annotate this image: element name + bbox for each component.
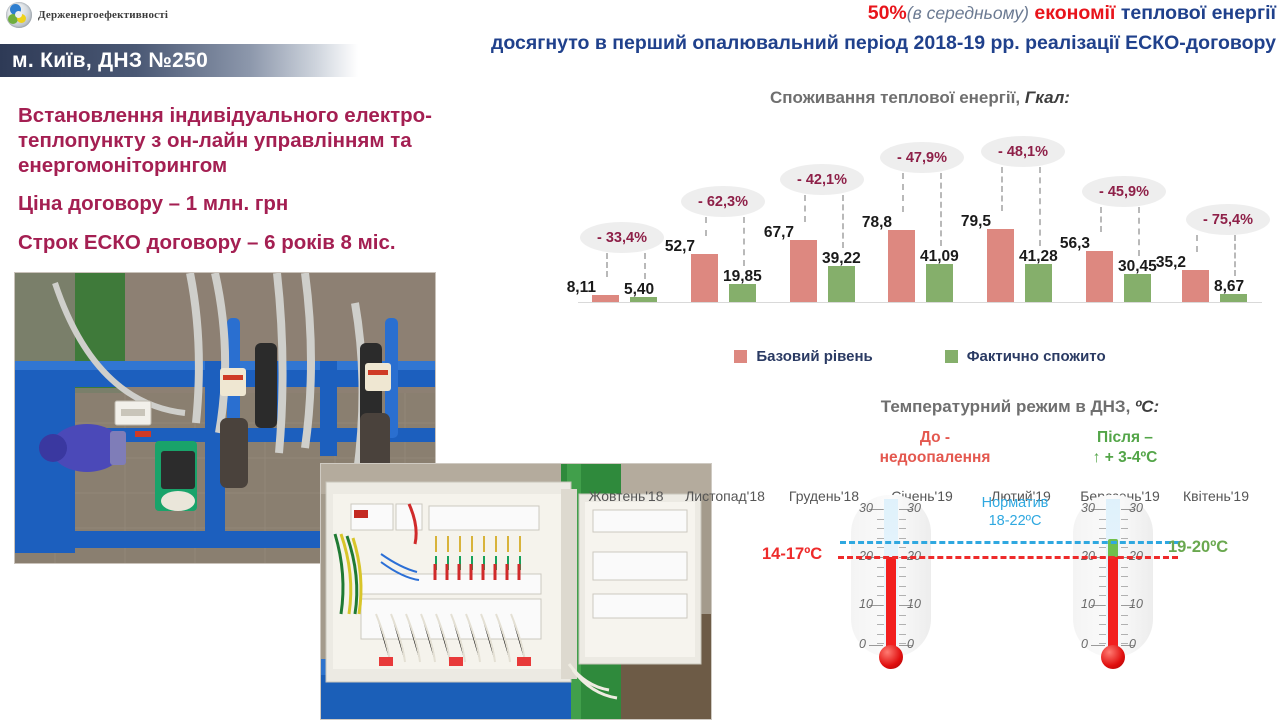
scale-minor-tick	[1121, 509, 1128, 510]
bar-actual	[729, 284, 756, 302]
scale-minor-tick	[1099, 624, 1106, 625]
scale-minor-tick	[1099, 605, 1106, 606]
scale-minor-tick	[1099, 586, 1106, 587]
headline: 50%(в середньому) економії теплової енер…	[416, 2, 1276, 56]
before-label-line1: До -	[840, 428, 1030, 448]
scale-tick	[1091, 645, 1105, 646]
scale-minor-tick	[877, 576, 884, 577]
callout-leader	[842, 195, 844, 248]
before-temperature-value: 14-17ºC	[762, 545, 822, 564]
scale-minor-tick	[899, 634, 906, 635]
scale-number: 10	[1081, 597, 1095, 611]
norm-label-line2: 18-22ºC	[955, 512, 1075, 530]
bar-value-base: 52,7	[665, 238, 695, 256]
bar-actual	[926, 264, 953, 302]
bar-actual	[1025, 264, 1052, 302]
scale-minor-tick	[899, 519, 906, 520]
scale-minor-tick	[1121, 595, 1128, 596]
scale-minor-tick	[877, 586, 884, 587]
reduction-callout: - 33,4%	[580, 222, 664, 253]
after-label: Після – ↑ + 3-4ºC	[1030, 428, 1220, 468]
scale-minor-tick	[1099, 615, 1106, 616]
bar-value-actual: 19,85	[723, 268, 762, 286]
scale-minor-tick	[1099, 509, 1106, 510]
bar-value-base: 56,3	[1060, 235, 1090, 253]
scale-number: 10	[859, 597, 873, 611]
after-temperature-value: 19-20ºC	[1168, 538, 1228, 557]
scale-minor-tick	[1099, 643, 1106, 644]
before-label-line2: недоопалення	[840, 448, 1030, 468]
scale-minor-tick	[1121, 615, 1128, 616]
callout-leader	[644, 253, 646, 279]
callout-leader	[606, 253, 608, 277]
callout-leader	[1001, 167, 1003, 211]
scale-minor-tick	[1099, 538, 1106, 539]
bar-value-actual: 8,67	[1214, 278, 1244, 296]
bar-value-base: 67,7	[764, 224, 794, 242]
scale-minor-tick	[877, 624, 884, 625]
reduction-callout: - 62,3%	[681, 186, 765, 217]
headline-paren: (в середньому)	[907, 3, 1029, 23]
scale-minor-tick	[1099, 519, 1106, 520]
scale-minor-tick	[1121, 586, 1128, 587]
scale-minor-tick	[877, 519, 884, 520]
scale-minor-tick	[899, 605, 906, 606]
scale-minor-tick	[899, 538, 906, 539]
reduction-callout: - 48,1%	[981, 136, 1065, 167]
bar-base	[888, 230, 915, 302]
city-title-bar: м. Київ, ДНЗ №250	[0, 44, 358, 77]
scale-minor-tick	[899, 595, 906, 596]
legend-label-actual: Фактично спожито	[967, 348, 1106, 365]
callout-leader	[1138, 207, 1140, 256]
scale-minor-tick	[899, 586, 906, 587]
bar-value-actual: 5,40	[624, 281, 654, 299]
scale-minor-tick	[877, 567, 884, 568]
bar-actual	[828, 266, 855, 302]
headline-line2: досягнуто в перший опалювальний період 2…	[416, 32, 1276, 56]
legend-item-base: Базовий рівень	[734, 348, 872, 365]
callout-leader	[1039, 167, 1041, 246]
scale-minor-tick	[877, 509, 884, 510]
legend-label-base: Базовий рівень	[756, 348, 872, 365]
callout-leader	[705, 217, 707, 236]
scale-minor-tick	[899, 528, 906, 529]
norm-label-line1: Норматив	[955, 494, 1075, 512]
bar-value-base: 35,2	[1156, 254, 1186, 272]
scale-minor-tick	[1099, 567, 1106, 568]
scale-number: 30	[859, 501, 873, 515]
scale-number: 0	[1081, 637, 1088, 651]
heat-consumption-chart: 8,115,40Жовтень'1852,719,85Листопад'1867…	[560, 120, 1280, 335]
bar-base	[1182, 270, 1209, 302]
bar-value-base: 79,5	[961, 213, 991, 231]
callout-leader	[1100, 207, 1102, 232]
scale-minor-tick	[899, 615, 906, 616]
scale-minor-tick	[1121, 519, 1128, 520]
reduction-callout: - 47,9%	[880, 142, 964, 173]
scale-minor-tick	[877, 615, 884, 616]
scale-minor-tick	[899, 547, 906, 548]
city-title: м. Київ, ДНЗ №250	[0, 49, 208, 73]
reduction-callout: - 45,9%	[1082, 176, 1166, 207]
bar-value-actual: 39,22	[822, 250, 861, 268]
x-axis-label: Листопад'18	[670, 488, 780, 504]
scale-minor-tick	[1121, 547, 1128, 548]
scale-number: 30	[1129, 501, 1143, 515]
after-label-line2: ↑ + 3-4ºC	[1030, 448, 1220, 468]
bar-value-base: 8,11	[567, 279, 596, 297]
scale-minor-tick	[877, 595, 884, 596]
scale-tick	[869, 645, 883, 646]
scale-minor-tick	[1121, 605, 1128, 606]
brand-name: Держенергоефективності	[38, 9, 168, 21]
scale-number: 0	[1129, 637, 1136, 651]
brand-logo: Держенергоефективності	[6, 2, 168, 28]
scale-minor-tick	[899, 567, 906, 568]
scale-number: 30	[1081, 501, 1095, 515]
norm-label: Норматив 18-22ºC	[955, 494, 1075, 530]
legend-item-actual: Фактично спожито	[945, 348, 1106, 365]
scale-minor-tick	[1121, 576, 1128, 577]
bar-base	[691, 254, 718, 302]
x-axis-label: Квітень'19	[1161, 488, 1271, 504]
scale-minor-tick	[1099, 576, 1106, 577]
callout-leader	[804, 195, 806, 222]
before-label: До - недоопалення	[840, 428, 1030, 468]
x-axis-label: Жовтень'18	[571, 488, 681, 504]
scale-minor-tick	[899, 509, 906, 510]
thermometer-before: 30302020101000	[851, 495, 931, 675]
contract-term: Строк ЕСКО договору – 6 років 8 міс.	[18, 231, 538, 256]
callout-leader	[743, 217, 745, 266]
measures-text-block: Встановлення індивідуального електро-теп…	[18, 104, 538, 256]
chart-baseline	[578, 302, 1262, 303]
scale-minor-tick	[899, 624, 906, 625]
bar-value-actual: 30,45	[1118, 258, 1157, 276]
callout-leader	[902, 173, 904, 212]
scale-minor-tick	[1121, 528, 1128, 529]
legend-swatch-actual	[945, 350, 958, 363]
bar-value-base: 78,8	[862, 214, 892, 232]
scale-minor-tick	[1121, 567, 1128, 568]
callout-leader	[940, 173, 942, 246]
callout-leader	[1234, 235, 1236, 276]
legend-swatch-base	[734, 350, 747, 363]
scale-number: 10	[907, 597, 921, 611]
scale-minor-tick	[1121, 643, 1128, 644]
norm-dashed-line	[840, 541, 1180, 544]
scale-minor-tick	[877, 538, 884, 539]
scale-minor-tick	[1099, 528, 1106, 529]
bar-base	[592, 295, 619, 302]
scale-minor-tick	[1099, 634, 1106, 635]
chart-title: Споживання теплової енергії, Гкал:	[560, 88, 1280, 108]
thermometer-after: 30302020101000	[1073, 495, 1153, 675]
reduction-callout: - 75,4%	[1186, 204, 1270, 235]
scale-minor-tick	[877, 547, 884, 548]
chart-legend: Базовий рівень Фактично спожито	[560, 348, 1280, 365]
agency-logo-icon	[6, 2, 32, 28]
bar-base	[1086, 251, 1113, 303]
scale-minor-tick	[877, 634, 884, 635]
scale-number: 10	[1129, 597, 1143, 611]
scale-minor-tick	[1099, 547, 1106, 548]
scale-minor-tick	[1121, 538, 1128, 539]
chart-title-unit: Гкал:	[1025, 88, 1070, 107]
bar-actual	[1124, 274, 1151, 302]
scale-number: 0	[907, 637, 914, 651]
chart-title-main: Споживання теплової енергії,	[770, 88, 1020, 107]
scale-number: 30	[907, 501, 921, 515]
scale-minor-tick	[899, 643, 906, 644]
temperature-title-main: Температурний режим в ДНЗ,	[881, 397, 1131, 416]
headline-rest: теплової енергії	[1121, 2, 1276, 24]
scale-minor-tick	[877, 643, 884, 644]
scale-minor-tick	[899, 576, 906, 577]
temperature-title-unit: ºC:	[1135, 397, 1159, 416]
reduction-callout: - 42,1%	[780, 164, 864, 195]
bar-value-actual: 41,09	[920, 248, 959, 266]
before-dashed-line	[838, 556, 1178, 559]
bar-value-actual: 41,28	[1019, 248, 1058, 266]
callout-leader	[1196, 235, 1198, 252]
bar-base	[987, 229, 1014, 302]
temperature-title: Температурний режим в ДНЗ, ºC:	[760, 397, 1280, 417]
scale-minor-tick	[1121, 634, 1128, 635]
scale-number: 0	[859, 637, 866, 651]
after-label-line1: Після –	[1030, 428, 1220, 448]
scale-minor-tick	[1121, 624, 1128, 625]
scale-minor-tick	[877, 605, 884, 606]
contract-price: Ціна договору – 1 млн. грн	[18, 192, 538, 217]
scale-minor-tick	[1099, 595, 1106, 596]
scale-minor-tick	[877, 528, 884, 529]
headline-economy: економії	[1034, 2, 1115, 24]
headline-percent: 50%	[868, 2, 907, 24]
measure-description: Встановлення індивідуального електро-теп…	[18, 104, 538, 178]
bar-base	[790, 240, 817, 302]
